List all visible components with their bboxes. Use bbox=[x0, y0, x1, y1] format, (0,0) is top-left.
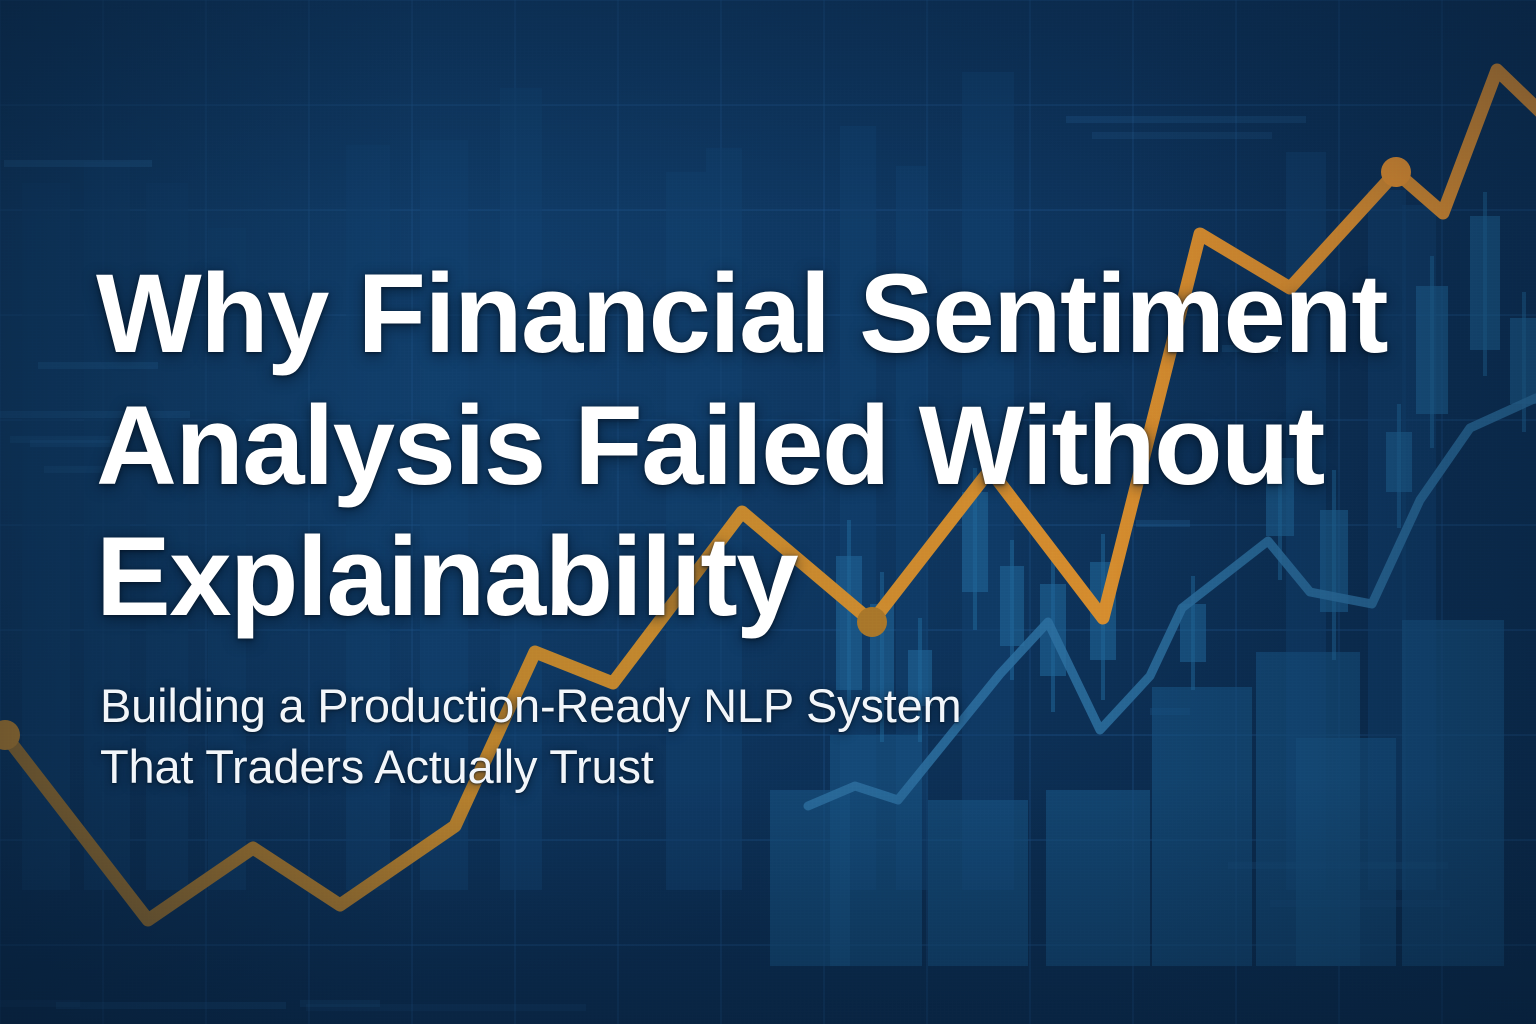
page-title: Why Financial Sentiment Analysis Failed … bbox=[96, 248, 1426, 643]
hero-text-block: Why Financial Sentiment Analysis Failed … bbox=[96, 248, 1426, 798]
page-subtitle: Building a Production-Ready NLP System T… bbox=[100, 675, 1426, 798]
hero-banner: Why Financial Sentiment Analysis Failed … bbox=[0, 0, 1536, 1024]
